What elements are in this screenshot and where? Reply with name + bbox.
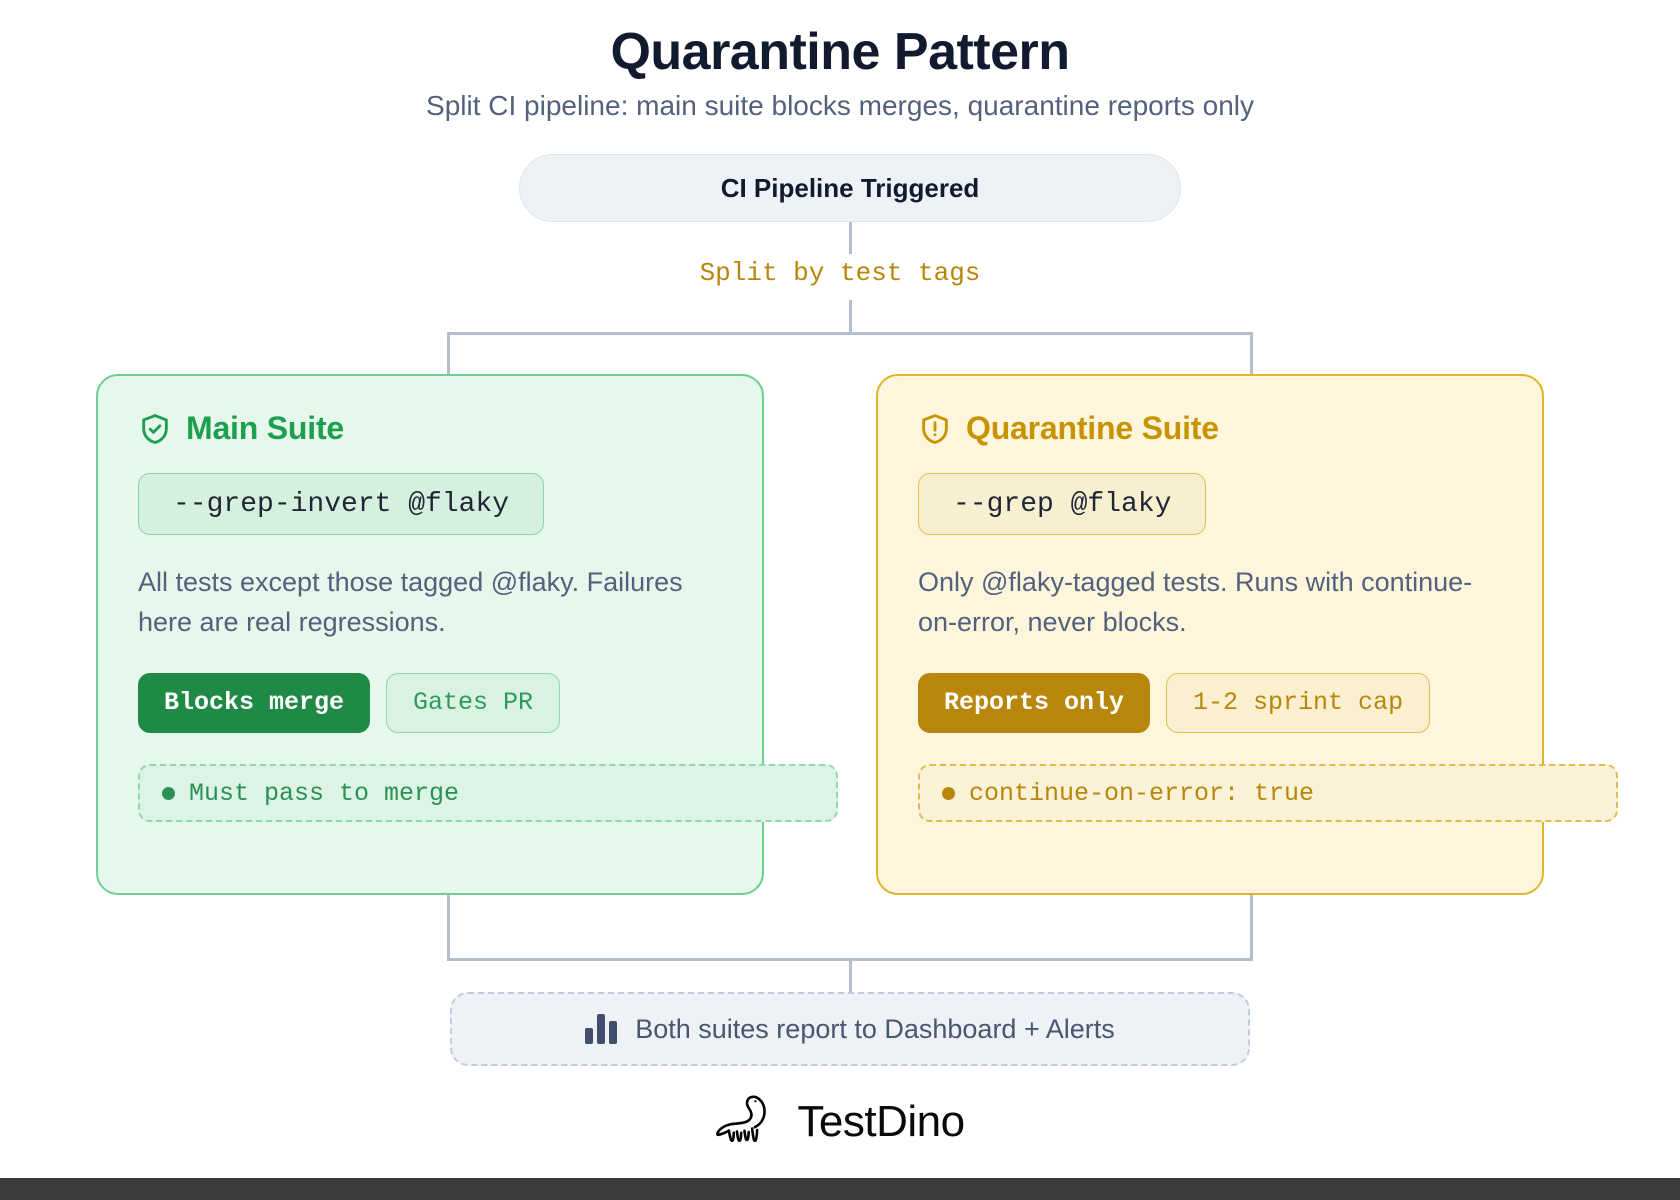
note-label: Must pass to merge [189, 779, 459, 808]
code-chip-grep-invert: --grep-invert @flaky [138, 473, 544, 535]
connector-split-horizontal [447, 332, 1253, 335]
diagram-canvas: Quarantine Pattern Split CI pipeline: ma… [0, 0, 1680, 1200]
note-continue-on-error: continue-on-error: true [918, 764, 1618, 822]
connector-quarantine-suite-down [1250, 895, 1253, 961]
code-chip-grep: --grep @flaky [918, 473, 1206, 535]
brand-logo: TestDino [0, 1090, 1680, 1153]
connector-main-suite-down [447, 895, 450, 961]
shield-check-icon [138, 412, 172, 446]
card-description: Only @flaky-tagged tests. Runs with cont… [918, 563, 1498, 643]
card-title: Main Suite [186, 410, 344, 447]
card-header: Quarantine Suite [918, 410, 1502, 447]
card-main-suite: Main Suite --grep-invert @flaky All test… [96, 374, 764, 895]
page-title: Quarantine Pattern [0, 22, 1680, 82]
connector-merge-down [849, 958, 852, 994]
page-subtitle: Split CI pipeline: main suite blocks mer… [0, 90, 1680, 122]
bullet-dot-icon [162, 787, 175, 800]
bullet-dot-icon [942, 787, 955, 800]
note-must-pass-to-merge: Must pass to merge [138, 764, 838, 822]
node-label: CI Pipeline Triggered [721, 173, 980, 204]
shield-alert-icon [918, 412, 952, 446]
edge-label-split-by-test-tags: Split by test tags [0, 258, 1680, 288]
connector-to-main-suite [447, 332, 450, 374]
node-ci-pipeline-triggered: CI Pipeline Triggered [519, 154, 1181, 222]
card-quarantine-suite: Quarantine Suite --grep @flaky Only @fla… [876, 374, 1544, 895]
connector-to-quarantine-suite [1250, 332, 1253, 374]
footer-strip [0, 1178, 1680, 1200]
card-description: All tests except those tagged @flaky. Fa… [138, 563, 718, 643]
card-title: Quarantine Suite [966, 410, 1219, 447]
badge-row: Reports only 1-2 sprint cap [918, 673, 1502, 733]
badge-sprint-cap: 1-2 sprint cap [1166, 673, 1430, 733]
badge-gates-pr: Gates PR [386, 673, 560, 733]
badge-blocks-merge: Blocks merge [138, 673, 370, 733]
brand-name: TestDino [797, 1097, 964, 1147]
dinosaur-icon [715, 1090, 781, 1153]
connector-root-down [849, 222, 852, 254]
badge-row: Blocks merge Gates PR [138, 673, 722, 733]
note-label: continue-on-error: true [969, 779, 1314, 808]
card-header: Main Suite [138, 410, 722, 447]
connector-split-down [849, 300, 852, 334]
node-dashboard-alerts: Both suites report to Dashboard + Alerts [450, 992, 1250, 1066]
node-label: Both suites report to Dashboard + Alerts [635, 1014, 1115, 1045]
bar-chart-icon [585, 1014, 617, 1044]
badge-reports-only: Reports only [918, 673, 1150, 733]
